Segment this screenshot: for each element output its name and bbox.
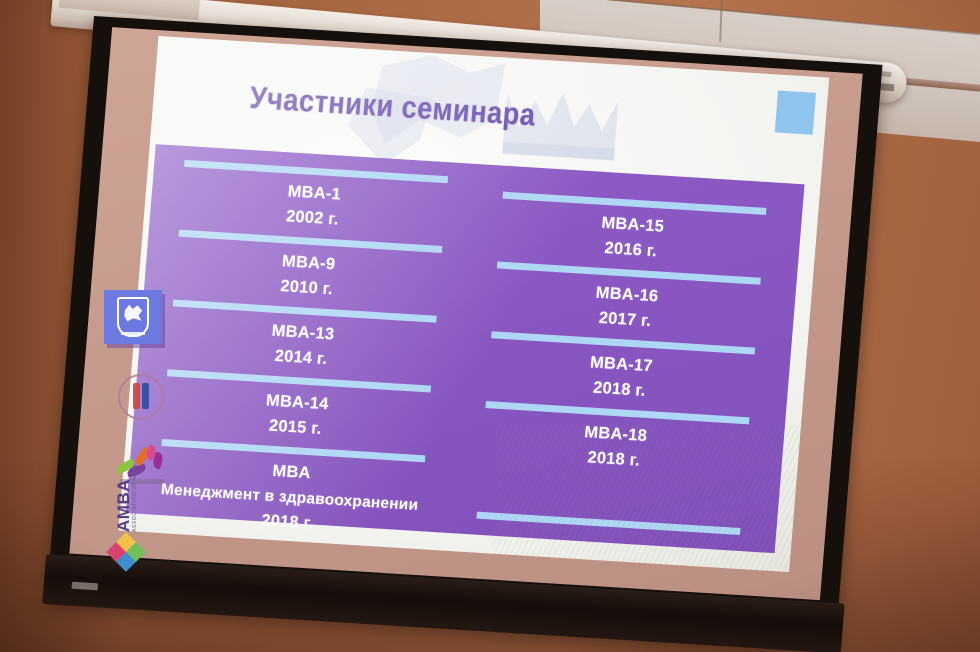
university-crest-logo [104, 290, 162, 344]
program-entry: MBA-18 2018 г. [481, 414, 749, 480]
screen-bar-tag [71, 582, 98, 591]
program-entry: MBA-14 2015 г. [162, 382, 430, 448]
slide-content: Участники семинара MBA-1 2002 г. MBA-9 2… [118, 36, 829, 572]
amba-logo: AMBA ASSOCIATION OF MBAs [106, 498, 172, 568]
emblem-blue-bar [142, 383, 149, 409]
programs-column-right: MBA-15 2016 г. MBA-16 2017 г. MBA-17 201… [446, 178, 793, 543]
emblem-red-bar [133, 383, 140, 409]
amba-diamond-icon [106, 532, 146, 572]
program-entry: MBA-1 2002 г. [180, 173, 448, 239]
program-entry: MBA-15 2016 г. [498, 205, 766, 271]
crest-motto [121, 332, 145, 335]
accent-square [775, 91, 816, 135]
amba-wordmark: AMBA [114, 462, 134, 532]
sponsor-logo-strip: AMBA ASSOCIATION OF MBAs [104, 290, 178, 570]
program-entry: MBA-17 2018 г. [487, 344, 755, 410]
program-entry: MBA-16 2017 г. [492, 274, 760, 340]
program-entry: MBA Менеджмент в здравоохранении 2018 г. [155, 452, 425, 543]
program-entry: MBA-9 2010 г. [174, 243, 442, 309]
amba-subtitle: ASSOCIATION OF MBAs [132, 462, 138, 532]
projected-slide: Участники семинара MBA-1 2002 г. MBA-9 2… [118, 36, 829, 572]
projector-room-photo: Участники семинара MBA-1 2002 г. MBA-9 2… [0, 0, 980, 652]
programs-panel: MBA-1 2002 г. MBA-9 2010 г. MBA-13 2014 … [126, 144, 805, 553]
casing-sticker [880, 83, 895, 91]
programs-column-left: MBA-1 2002 г. MBA-9 2010 г. MBA-13 2014 … [137, 159, 474, 523]
circle-emblem-logo [118, 374, 164, 420]
circle-ring-icon [118, 374, 164, 420]
program-entry: MBA-13 2014 г. [168, 312, 436, 378]
